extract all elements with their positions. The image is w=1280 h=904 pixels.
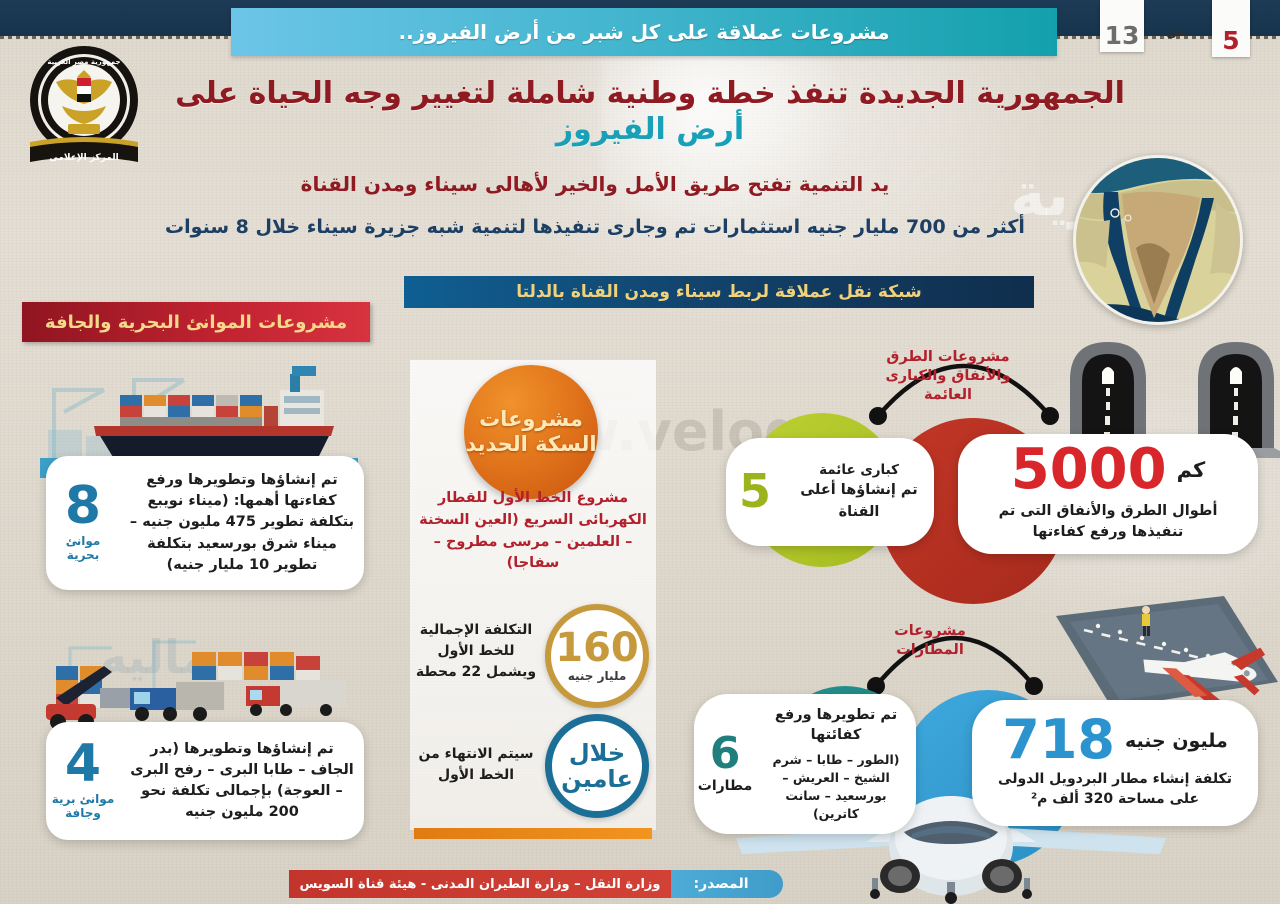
roads-length-value: 5000: [1011, 445, 1167, 495]
railway-project-description: مشروع الخط الأول للقطار الكهربائى السريع…: [414, 488, 652, 575]
infographic-page: مشروعات عملاقة على كل شبر من أرض الفيروز…: [0, 0, 1280, 904]
dry-ports-card: تم إنشاؤها وتطويرها (بدر الجاف – طابا ال…: [46, 722, 364, 840]
floating-bridges-card: كبارى عائمة تم إنشاؤها أعلى القناة 5: [726, 438, 934, 546]
sea-ports-description: تم إنشاؤها وتطويرها ورفع كفاءتها أهمها: …: [120, 470, 364, 575]
dry-ports-unit-1: موانئ برية: [52, 792, 115, 806]
airports-count-description: تم تطويرها ورفع كفائتها: [762, 705, 910, 746]
dry-ports-count: 4: [65, 741, 101, 788]
railway-duration-line-1: خلال: [569, 740, 625, 766]
sea-ports-count: 8: [65, 483, 101, 530]
container-trucks-icon: [34, 626, 364, 736]
airports-count-card: تم تطويرها ورفع كفائتها (الطور – طابا – …: [694, 694, 916, 834]
page-total-chip: 13: [1100, 0, 1144, 52]
top-banner: مشروعات عملاقة على كل شبر من أرض الفيروز…: [231, 8, 1057, 56]
railway-cost-value: 160: [555, 629, 639, 667]
railway-completion-description: سيتم الانتهاء من الخط الأول: [412, 744, 540, 786]
source-value-bar: وزارة النقل – وزارة الطيران المدنى - هيئ…: [289, 870, 671, 898]
transport-network-band: شبكة نقل عملاقة لربط سيناء ومدن القناة ب…: [404, 276, 1034, 308]
railway-cost-badge: 160 مليار جنيه: [545, 604, 649, 708]
floating-bridges-description: تم إنشاؤها أعلى القناة: [800, 482, 918, 520]
airports-count-unit: مطارات: [698, 778, 753, 794]
railway-duration-line-2: عامين: [561, 766, 633, 792]
airport-cost-card: مليون جنيه 718 تكلفة إنشاء مطار البردويل…: [972, 700, 1258, 826]
source-value: وزارة النقل – وزارة الطيران المدنى - هيئ…: [300, 877, 661, 892]
railway-cost-unit: مليار جنيه: [568, 669, 627, 683]
page-title-accent: أرض الفيروز: [556, 112, 744, 147]
dry-ports-unit: موانئ برية وجافة: [52, 792, 115, 821]
top-banner-text: مشروعات عملاقة على كل شبر من أرض الفيروز…: [398, 20, 889, 44]
sea-ports-unit-2: بحرية: [67, 548, 99, 562]
railway-panel-accent-bar: [414, 828, 652, 839]
roads-length-card: كم 5000 أطوال الطرق والأنفاق التى تم تنف…: [958, 434, 1258, 554]
sinai-peninsula-satellite-map: [1073, 155, 1243, 325]
dry-ports-description: تم إنشاؤها وتطويرها (بدر الجاف – طابا ال…: [120, 739, 364, 823]
railway-cost-description: التكلفة الإجمالية للخط الأول ويشمل 22 مح…: [412, 620, 540, 683]
roads-length-headline: كم 5000: [958, 445, 1258, 495]
airport-cost-value: 718: [1002, 716, 1115, 765]
page-total: 13: [1105, 23, 1140, 48]
railway-section-badge: مشروعات السكة الحديد: [464, 365, 598, 499]
roads-length-description: أطوال الطرق والأنفاق التى تم تنفيذها ورف…: [958, 501, 1258, 543]
ports-section-ribbon: مشروعات الموانئ البحرية والجافة: [22, 302, 370, 342]
page-current-chip: 5: [1212, 0, 1250, 57]
sea-ports-card: تم إنشاؤها وتطويرها ورفع كفاءتها أهمها: …: [46, 456, 364, 590]
sea-ports-unit: موانئ بحرية: [66, 534, 101, 563]
svg-text:المركز الإعلامى: المركز الإعلامى: [49, 153, 119, 163]
page-title: الجمهورية الجديدة تنفذ خطة وطنية شاملة ل…: [150, 76, 1150, 148]
airports-count-text: تم تطويرها ورفع كفائتها (الطور – طابا – …: [756, 705, 916, 823]
airports-section-title: مشروعات المطارات: [860, 622, 1000, 660]
airport-cost-unit: مليون جنيه: [1125, 730, 1228, 752]
airports-count-metric: 6 مطارات: [694, 734, 756, 794]
transport-network-band-text: شبكة نقل عملاقة لربط سيناء ومدن القناة ب…: [516, 282, 922, 302]
dry-ports-metric: 4 موانئ برية وجافة: [46, 741, 120, 821]
floating-bridges-count: 5: [726, 471, 784, 512]
floating-bridges-unit: كبارى عائمة: [784, 460, 934, 480]
ports-section-title: مشروعات الموانئ البحرية والجافة: [45, 312, 347, 333]
airport-cost-description: تكلفة إنشاء مطار البردويل الدولى على مسا…: [972, 769, 1258, 810]
subtitle-line-2: أكثر من 700 مليار جنيه استثمارات تم وجار…: [150, 216, 1040, 238]
railway-section-title: مشروعات السكة الحديد: [464, 407, 598, 457]
page-title-main: الجمهورية الجديدة تنفذ خطة وطنية شاملة ل…: [175, 76, 1125, 111]
dry-ports-unit-2: وجافة: [65, 806, 101, 820]
railway-duration-badge: خلال عامين: [545, 714, 649, 818]
airport-cost-headline: مليون جنيه 718: [972, 716, 1258, 765]
svg-text:جمهورية مصر العربية: جمهورية مصر العربية: [47, 58, 120, 66]
floating-bridges-text: كبارى عائمة تم إنشاؤها أعلى القناة: [784, 460, 934, 524]
roads-section-title: مشروعات الطرق والأنفاق والكبارى العائمة: [868, 348, 1028, 405]
page-of-label: من: [1152, 24, 1200, 39]
airports-count-value: 6: [710, 734, 741, 774]
egypt-cabinet-media-center-seal: جمهورية مصر العربية رئاسة مجلس الوزراء ا…: [22, 42, 146, 168]
roads-length-unit: كم: [1177, 458, 1206, 482]
page-current: 5: [1222, 28, 1239, 53]
subtitle-line-1: يد التنمية تفتح طريق الأمل والخير لأهالى…: [150, 172, 1040, 196]
sea-ports-unit-1: موانئ: [66, 534, 101, 548]
sea-ports-metric: 8 موانئ بحرية: [46, 483, 120, 563]
airports-count-list: (الطور – طابا – شرم الشيخ – العريش – بور…: [762, 751, 910, 824]
